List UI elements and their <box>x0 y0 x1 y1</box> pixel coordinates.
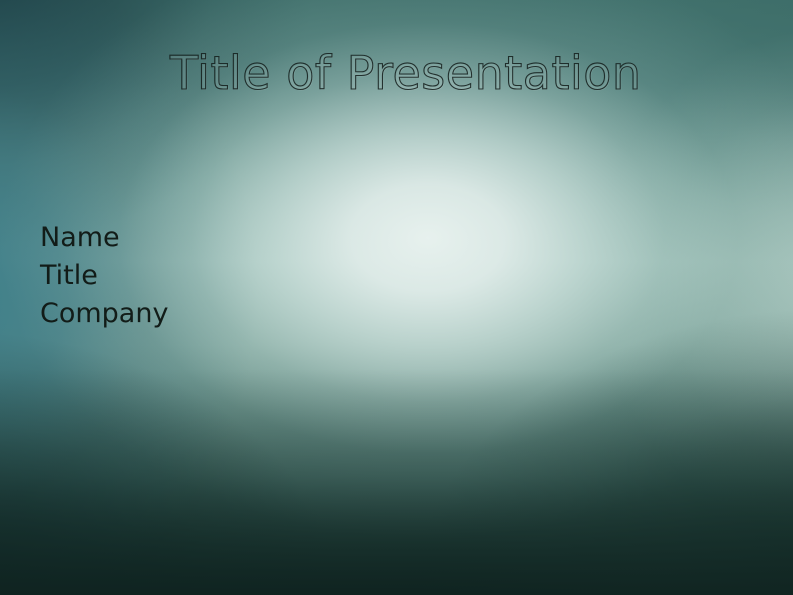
slide-title[interactable]: Title of Presentation <box>170 46 642 100</box>
subtitle-line-name: Name <box>40 219 168 257</box>
subtitle-line-title: Title <box>40 257 168 295</box>
presentation-slide: Title of Presentation Name Title Company <box>0 0 793 595</box>
slide-subtitle-block[interactable]: Name Title Company <box>40 219 168 333</box>
subtitle-line-company: Company <box>40 295 168 333</box>
